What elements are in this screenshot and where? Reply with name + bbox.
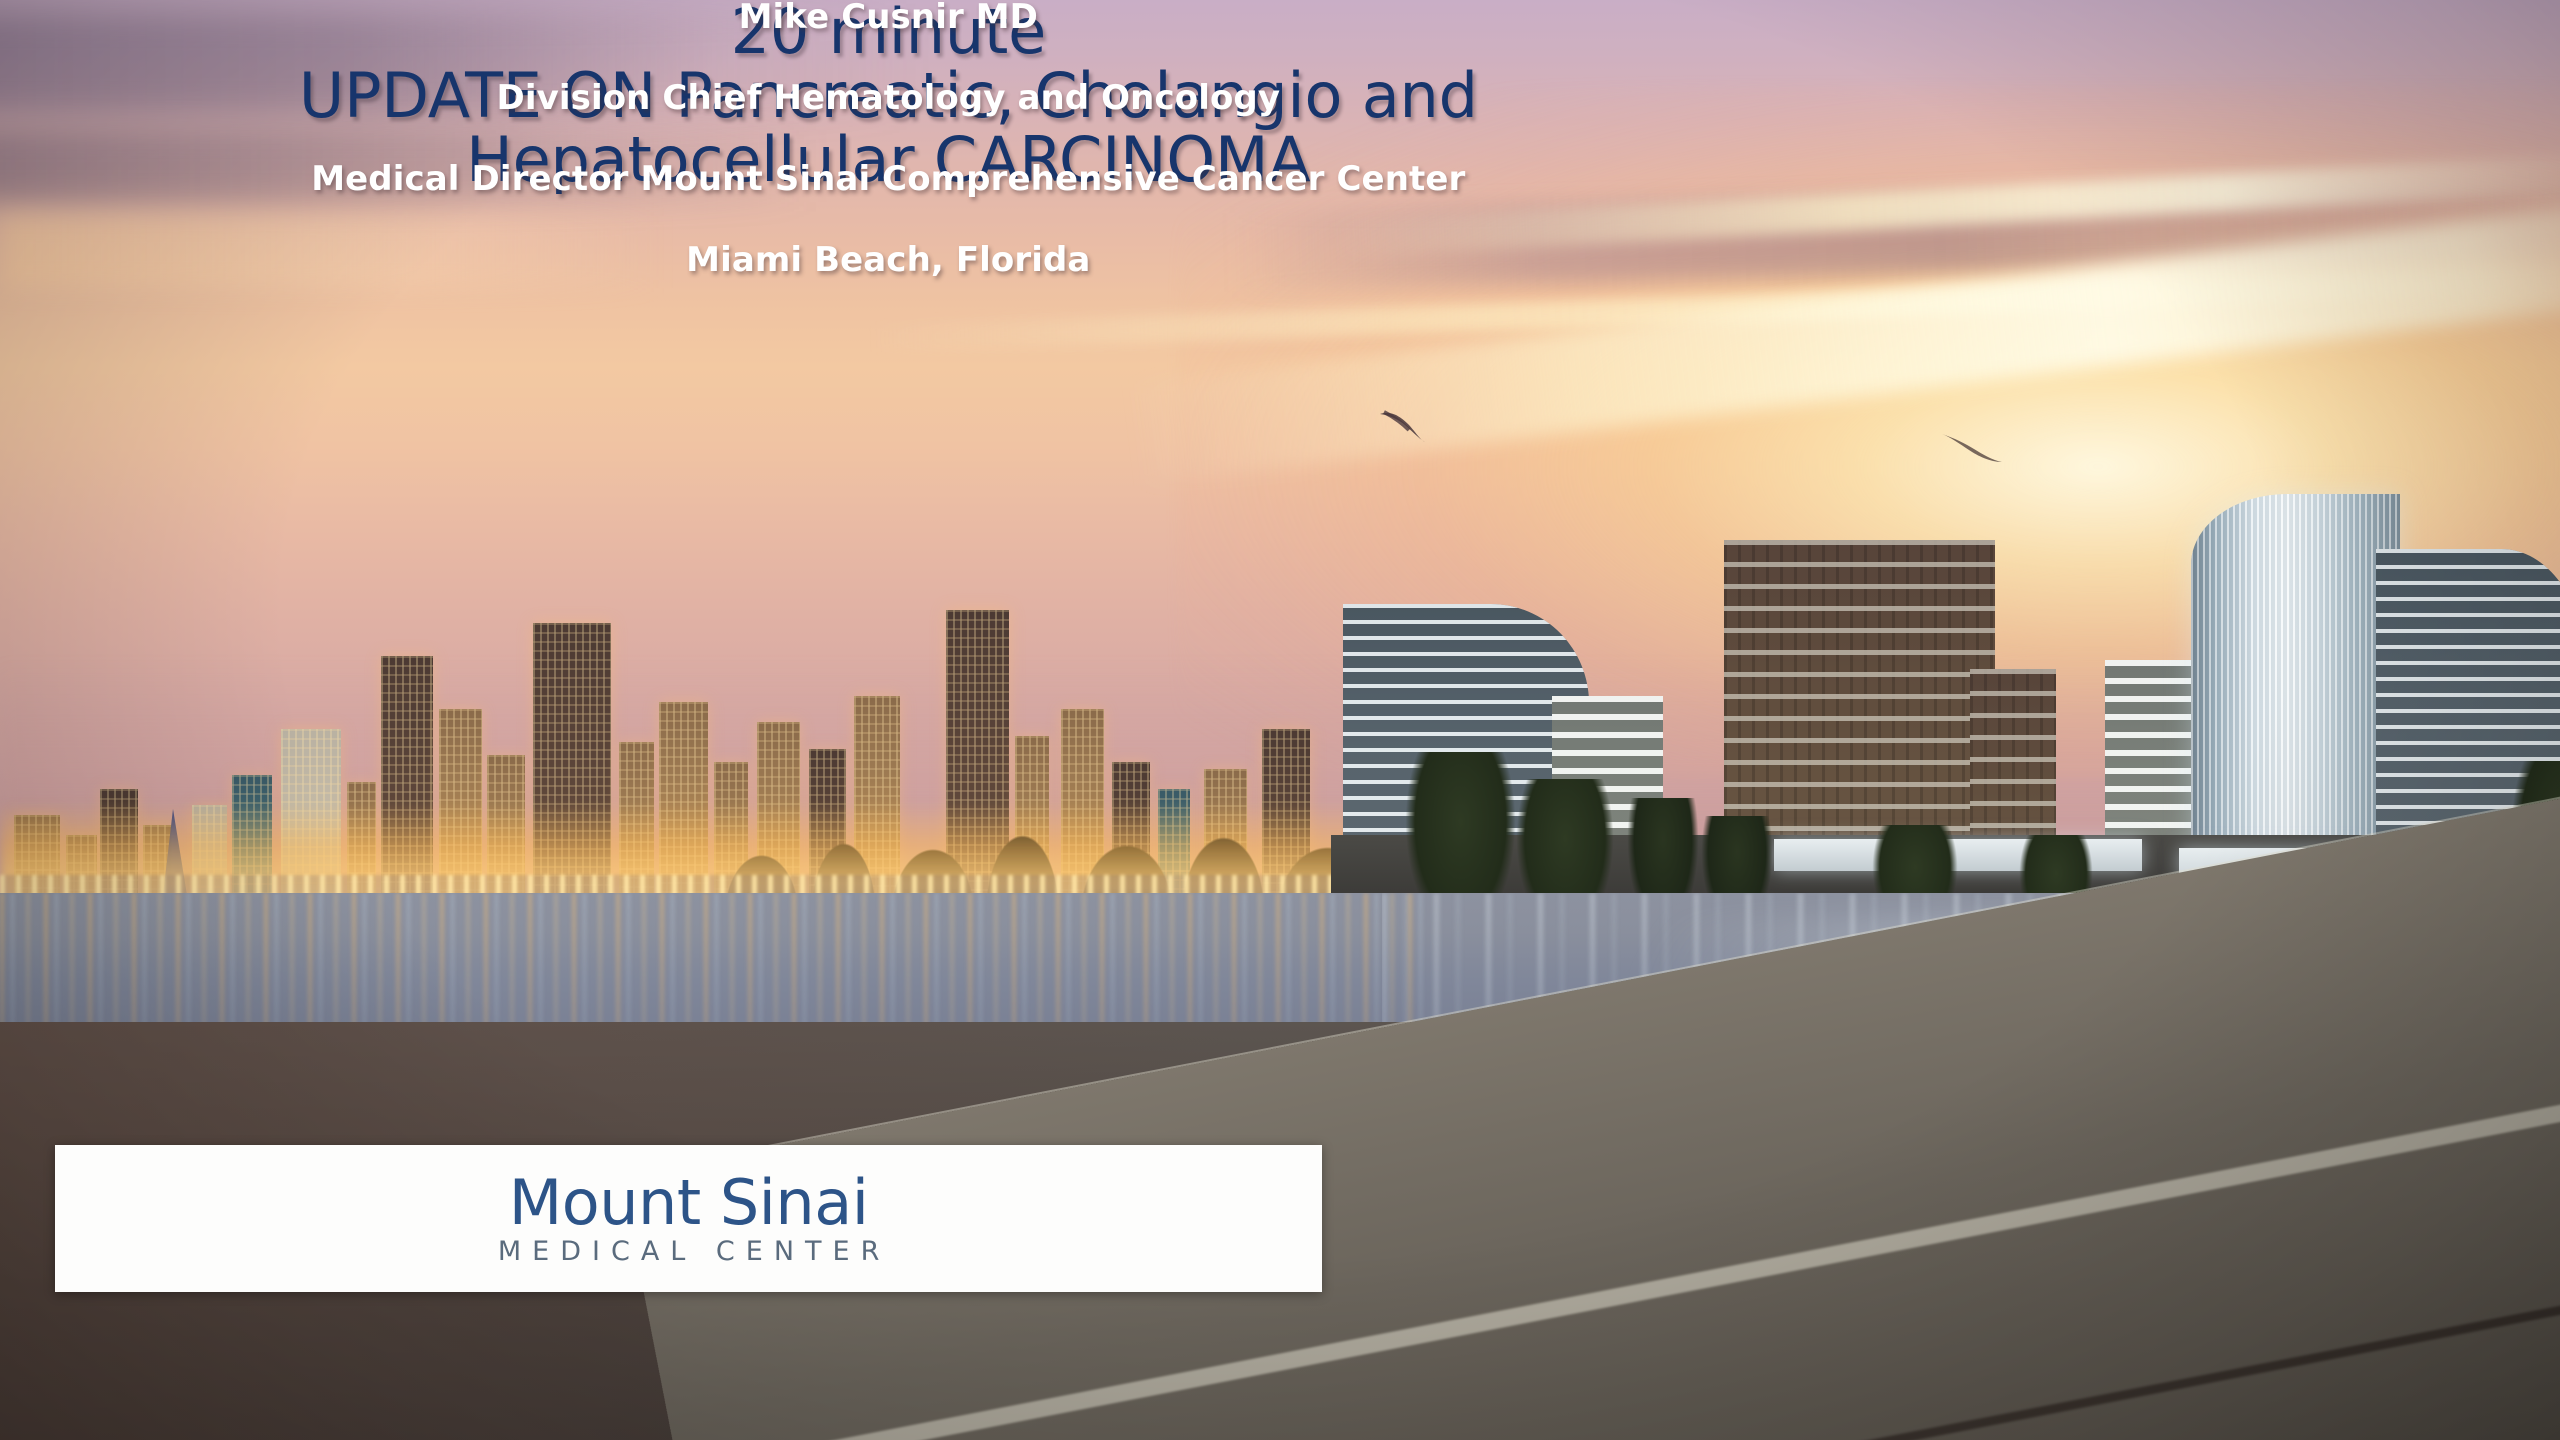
presenter-location: Miami Beach, Florida xyxy=(56,243,1720,277)
presenter-affiliation: Medical Director Mount Sinai Comprehensi… xyxy=(56,162,1720,196)
logo-subwordmark: MEDICAL CENTER xyxy=(487,1238,890,1265)
presenter-role: Division Chief Hematology and Oncology xyxy=(56,81,1720,115)
city-skyline xyxy=(0,583,1434,914)
bird-icon-left xyxy=(1378,408,1440,444)
presenter-name: Mike Cusnir MD xyxy=(56,0,1720,34)
slide-subtitle: Mike Cusnir MD Division Chief Hematology… xyxy=(56,0,1720,324)
presentation-slide: 20 minute UPDATE ON Pancreatic, Cholangi… xyxy=(0,0,2560,1440)
bird-icon-right xyxy=(1938,430,2008,466)
mount-sinai-logo: Mount Sinai MEDICAL CENTER xyxy=(55,1145,1322,1292)
logo-wordmark: Mount Sinai xyxy=(509,1172,869,1234)
